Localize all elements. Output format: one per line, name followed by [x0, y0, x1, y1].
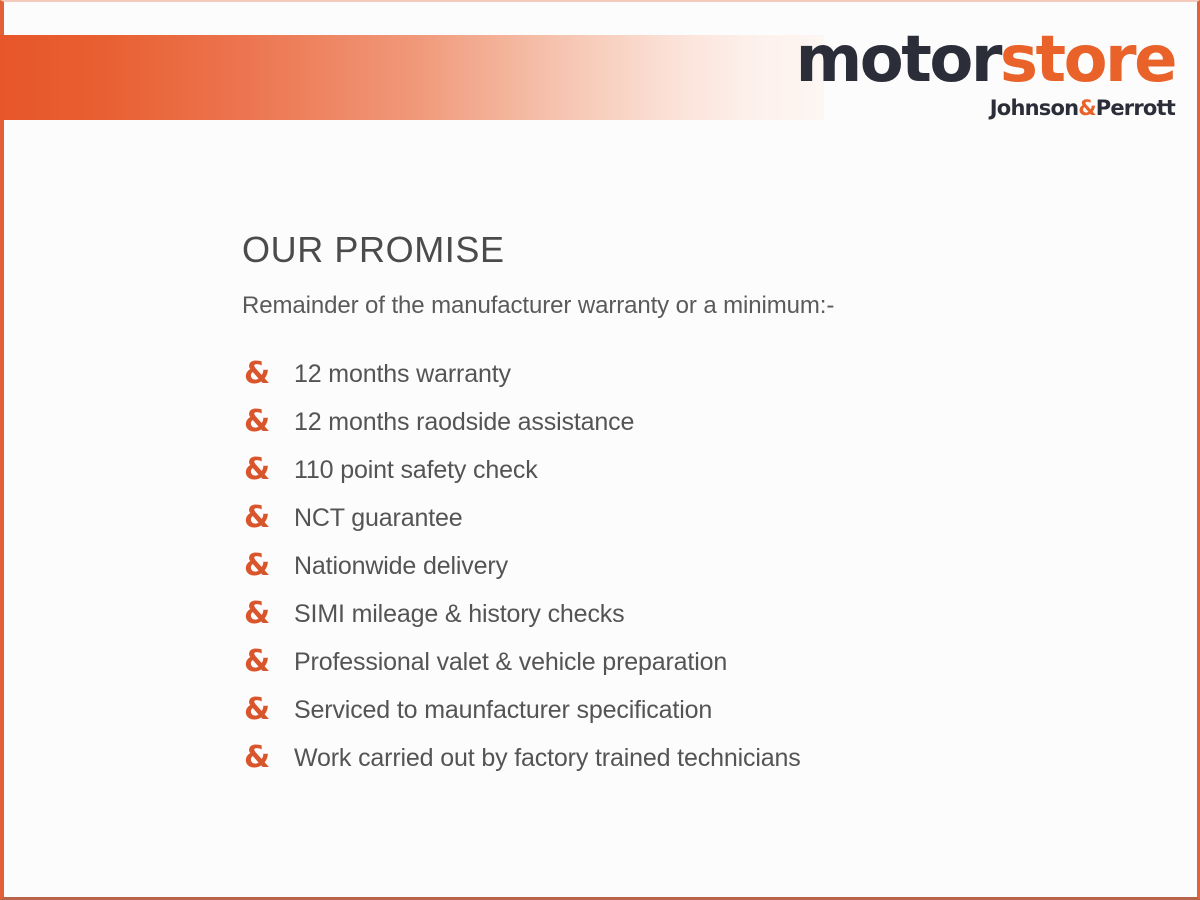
list-item: &12 months raodside assistance	[242, 398, 1157, 446]
ampersand-bullet-icon: &	[242, 647, 294, 677]
list-item: &SIMI mileage & history checks	[242, 590, 1157, 638]
list-item-label: SIMI mileage & history checks	[294, 599, 625, 629]
ampersand-bullet-icon: &	[242, 359, 294, 389]
promise-list: &12 months warranty&12 months raodside a…	[242, 350, 1157, 782]
logo-word-motor: motor	[796, 23, 1000, 97]
ampersand-bullet-icon: &	[242, 695, 294, 725]
logo-sub-perrott: Perrott	[1096, 96, 1175, 120]
page-title: OUR PROMISE	[242, 230, 1157, 270]
logo-subtitle: Johnson&Perrott	[796, 98, 1175, 119]
ampersand-bullet-icon: &	[242, 599, 294, 629]
ampersand-bullet-icon: &	[242, 407, 294, 437]
list-item-label: Serviced to maunfacturer specification	[294, 695, 712, 725]
list-item: &Nationwide delivery	[242, 542, 1157, 590]
list-item-label: NCT guarantee	[294, 503, 463, 533]
list-item: &Professional valet & vehicle preparatio…	[242, 638, 1157, 686]
promise-slide: motorstore Johnson&Perrott OUR PROMISE R…	[0, 0, 1200, 900]
ampersand-bullet-icon: &	[242, 743, 294, 773]
list-item-label: Nationwide delivery	[294, 551, 508, 581]
list-item: &Serviced to maunfacturer specification	[242, 686, 1157, 734]
header-gradient-band	[0, 35, 824, 120]
list-item-label: 12 months raodside assistance	[294, 407, 634, 437]
list-item-label: 110 point safety check	[294, 455, 538, 485]
ampersand-bullet-icon: &	[242, 551, 294, 581]
list-item: &Work carried out by factory trained tec…	[242, 734, 1157, 782]
list-item: &110 point safety check	[242, 446, 1157, 494]
list-item-label: Work carried out by factory trained tech…	[294, 743, 801, 773]
logo-sub-johnson: Johnson	[990, 96, 1078, 120]
list-item: &NCT guarantee	[242, 494, 1157, 542]
brand-logo: motorstore Johnson&Perrott	[796, 28, 1175, 119]
list-item: &12 months warranty	[242, 350, 1157, 398]
page-subtitle: Remainder of the manufacturer warranty o…	[242, 292, 1157, 321]
list-item-label: Professional valet & vehicle preparation	[294, 647, 727, 677]
list-item-label: 12 months warranty	[294, 359, 511, 389]
content-area: OUR PROMISE Remainder of the manufacture…	[242, 230, 1157, 782]
ampersand-bullet-icon: &	[242, 503, 294, 533]
ampersand-icon: &	[1078, 96, 1096, 120]
logo-wordmark: motorstore	[796, 28, 1175, 92]
logo-word-store: store	[1000, 23, 1175, 97]
ampersand-bullet-icon: &	[242, 455, 294, 485]
